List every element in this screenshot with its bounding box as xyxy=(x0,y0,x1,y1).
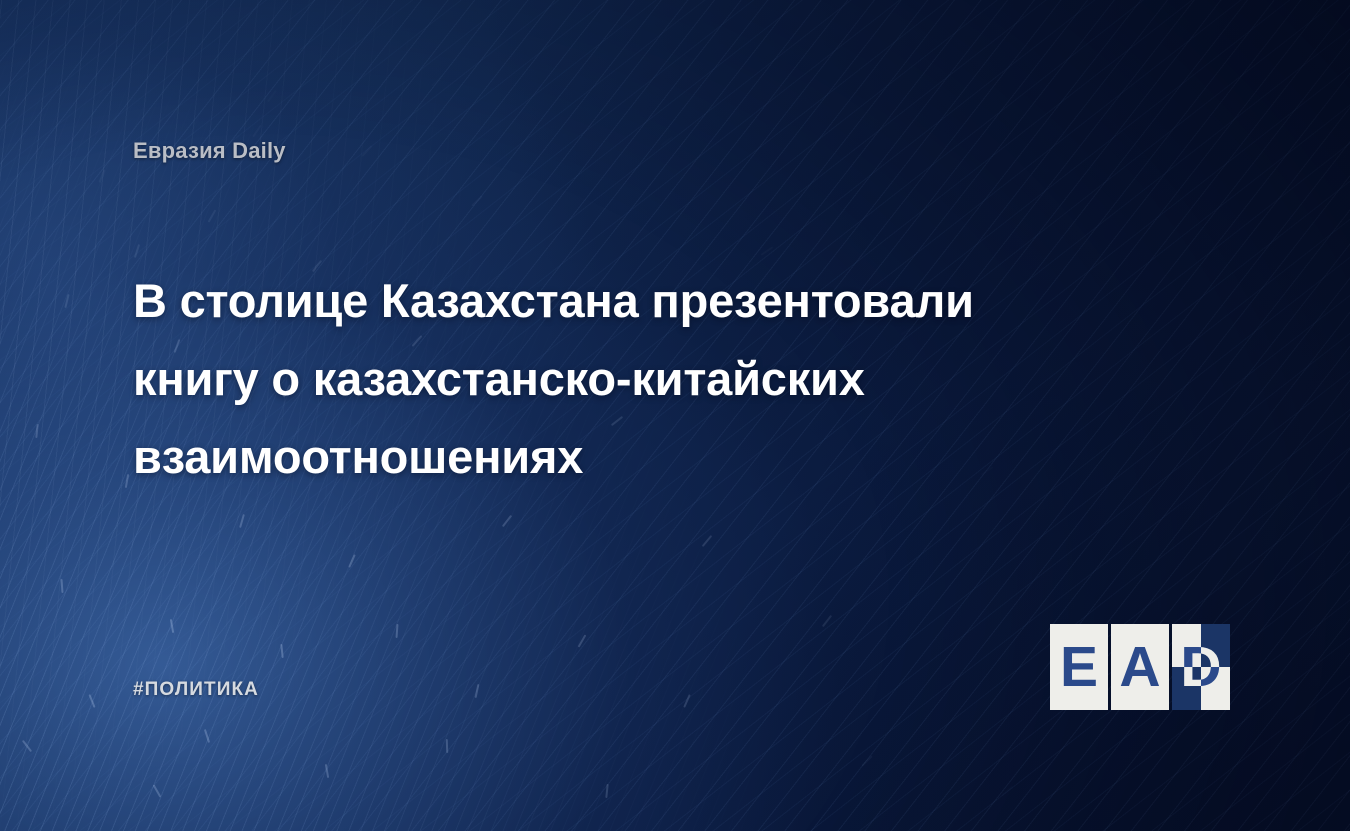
headline-line-3: взаимоотношениях xyxy=(133,418,1033,496)
eadaily-logo-mark[interactable]: E A D D D D xyxy=(1050,624,1232,710)
logo-tile-d-quadrant-bottom-left: D xyxy=(1172,667,1201,710)
headline: В столице Казахстана презентовали книгу … xyxy=(133,262,1033,496)
headline-line-2: книгу о казахстанско-китайских xyxy=(133,340,1033,418)
logo-tile-d: D D D D xyxy=(1172,624,1230,710)
logo-tile-e: E xyxy=(1050,624,1108,710)
logo-letter-e: E xyxy=(1060,639,1098,696)
brand-name: Евразия Daily xyxy=(133,138,286,164)
logo-tile-d-quadrant-top-left: D xyxy=(1172,624,1201,667)
logo-tile-a: A xyxy=(1111,624,1169,710)
logo-tile-d-quadrant-top-right: D xyxy=(1201,624,1230,667)
category-tag[interactable]: #ПОЛИТИКА xyxy=(133,679,259,701)
news-share-card: Евразия Daily В столице Казахстана презе… xyxy=(0,0,1350,831)
logo-tile-d-quadrant-bottom-right: D xyxy=(1201,667,1230,710)
headline-line-1: В столице Казахстана презентовали xyxy=(133,262,1033,340)
logo-letter-a: A xyxy=(1119,639,1160,696)
card-content: Евразия Daily В столице Казахстана презе… xyxy=(0,0,1350,831)
